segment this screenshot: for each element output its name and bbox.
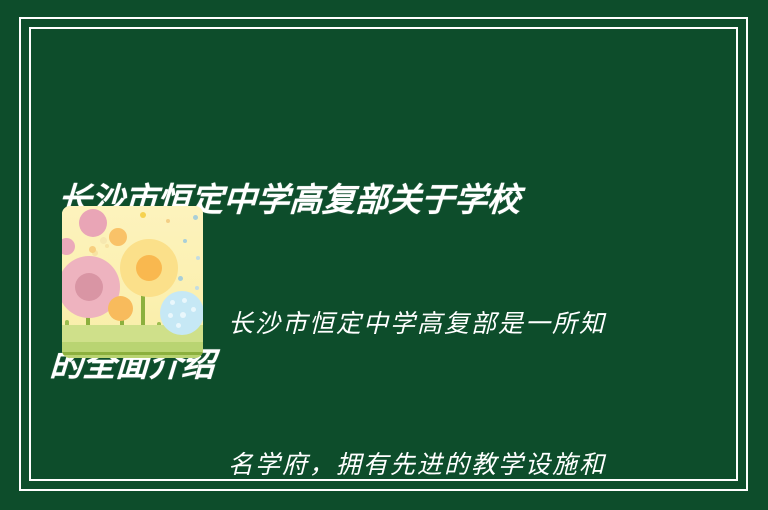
blue-flower-dot <box>182 298 187 303</box>
orange-bud-top <box>109 228 127 246</box>
body-line-1: 长沙市恒定中学高复部是一所知 <box>228 300 648 347</box>
orange-flower-small <box>108 296 133 321</box>
orange-micro-dot <box>89 246 96 253</box>
blue-flower <box>160 291 203 335</box>
poster-canvas: 长沙市恒定中学高复部关于学校 的全面介绍 <box>0 0 768 510</box>
ambient-dot-icon <box>100 237 107 244</box>
body-paragraph: 长沙市恒定中学高复部是一所知 名学府，拥有先进的教学设施和 资深的师资团队，注重… <box>228 206 648 510</box>
ambient-dot-icon <box>166 219 170 223</box>
ambient-dot-icon <box>195 286 199 290</box>
pink-flower-small-top <box>79 209 107 237</box>
blue-flower-dot <box>168 313 173 318</box>
ambient-dot-icon <box>183 239 187 243</box>
ambient-dot-icon <box>193 215 198 220</box>
blue-flower-dot <box>191 307 196 312</box>
yellow-flower-large <box>120 239 178 297</box>
ambient-dot-icon <box>196 256 200 260</box>
ambient-dot-icon <box>140 212 146 218</box>
ambient-dot-icon <box>178 276 183 281</box>
yellow-flower-large-core <box>136 255 162 281</box>
body-line-2: 名学府，拥有先进的教学设施和 <box>228 441 648 488</box>
grass-foreground <box>62 342 203 358</box>
ground-line <box>62 352 203 355</box>
ambient-dot-icon <box>105 244 109 248</box>
blue-flower-dot <box>180 312 186 318</box>
flower-garden-illustration <box>62 206 203 358</box>
blue-flower-dot <box>170 300 175 305</box>
pink-flower-large-core <box>75 273 103 301</box>
blue-flower-dot <box>176 323 181 328</box>
